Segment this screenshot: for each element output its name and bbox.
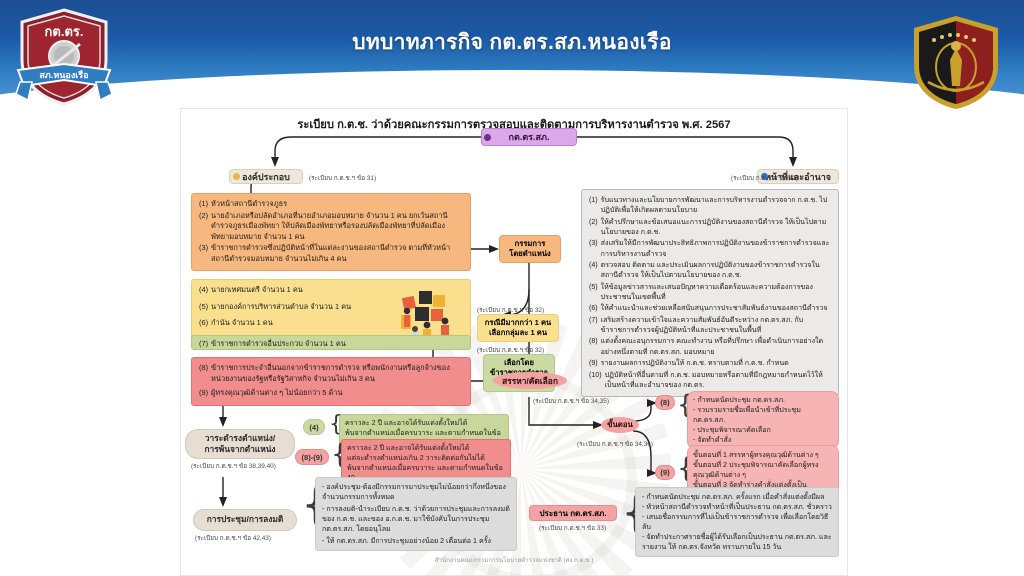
duties-list-box: (1)รับแนวทางและนโยบายการพัฒนาและการบริหา…	[581, 189, 839, 397]
list-item: (2) นายอำเภอหรือปลัดอำเภอที่นายอำเภอมอบห…	[199, 211, 463, 243]
composition-group-orange: (1) หัวหน้าสถานีตำรวจภูธร (2) นายอำเภอหร…	[191, 193, 471, 271]
list-item: (5)ให้ข้อมูลข่าวสารและเสนอปัญหาความเดือด…	[589, 282, 831, 303]
meeting-line: - การลงมติ-นำระเบียบ ก.ต.ช. ว่าด้วยการปร…	[322, 504, 510, 534]
chairman-line: - จัดทำประกาศรายชื่อผู้ได้รับเลือกเป็นปร…	[642, 532, 832, 552]
item-number: (6)	[199, 318, 208, 329]
item-text: ตรวจสอบ ติดตาม และประเมินผลการปฏิบัติงาน…	[601, 260, 831, 281]
meeting-node[interactable]: การประชุม/การลงมติ	[193, 509, 297, 531]
list-item: (10)ปฏิบัติหน้าที่อื่นตามที่ ก.ต.ช. มอบห…	[589, 370, 831, 391]
steps-ref-top: (ระเบียบ ก.ต.ช.ฯ ข้อ 34,35)	[533, 396, 609, 406]
item-number: (7)	[589, 315, 598, 336]
diagram-footer-note: สำนักงานคณะกรรมการนโยบายตำรวจแห่งชาติ (ส…	[181, 555, 847, 565]
meeting-lines-box: - องค์ประชุม-ต้องมีกรรมการมาประชุมไม่น้อ…	[315, 477, 517, 551]
diagram-canvas: ระเบียบ ก.ต.ช. ว่าด้วยคณะกรรมการตรวจสอบแ…	[180, 108, 848, 576]
svg-text:สภ.หนองเรือ: สภ.หนองเรือ	[39, 69, 88, 80]
composition-group-green: (7) ข้าราชการตำรวจอื่นประกวบ จำนวน 1 คน	[191, 335, 471, 350]
step-line: - จัดทำคำสั่ง	[693, 435, 833, 445]
composition-dot-icon	[233, 173, 240, 180]
recruit-select-node[interactable]: สรรหา/คัดเลือก	[493, 372, 567, 389]
item-text: ข้าราชการประจำอื่นนอกจากข้าราชการตำรวจ ห…	[211, 363, 463, 384]
item-text: แต่งตั้งคณะอนุกรรมการ คณะทำงาน หรือที่ปร…	[601, 336, 831, 357]
steps-badge-8: (8)	[655, 395, 675, 410]
committee-by-position-node[interactable]: กรรมการ โดยตำแหน่ง	[499, 235, 561, 263]
item-text: หัวหน้าสถานีตำรวจภูธร	[211, 199, 463, 210]
list-item: (9) ผู้ทรงคุณวุฒิด้านต่าง ๆ ไม่น้อยกว่า …	[199, 388, 463, 399]
item-number: (9)	[199, 388, 208, 399]
list-item: (1)รับแนวทางและนโยบายการพัฒนาและการบริหา…	[589, 195, 831, 216]
page-title: บทบาทภารกิจ กต.ตร.สภ.หนองเรือ	[0, 26, 1024, 59]
branch-composition-text: องค์ประกอบ	[242, 170, 290, 184]
term-line: แต่จะดำรงตำแหน่งเกิน 2 วาระติดต่อกันไม่ไ…	[347, 453, 505, 463]
item-number: (4)	[589, 260, 598, 281]
term-of-office-node[interactable]: วาระดำรงตำแหน่ง/ การพ้นจากตำแหน่ง	[185, 429, 295, 459]
list-item: (2)ให้คำปรึกษาและข้อเสนอแนะการปฏิบัติงาน…	[589, 217, 831, 238]
composition-group-red: (8) ข้าราชการประจำอื่นนอกจากข้าราชการตำร…	[191, 357, 471, 406]
chairman-ref: (ระเบียบ ก.ต.ช.ฯ ข้อ 33)	[539, 523, 606, 533]
item-number: (1)	[589, 195, 598, 216]
item-number: (3)	[589, 238, 598, 259]
step-line: - รวบรวมรายชื่อเพื่อนำเข้าที่ประชุม กต.ต…	[693, 405, 833, 425]
royal-thai-police-emblem-icon	[908, 12, 1004, 112]
step-line: ขั้นตอนที่ 2 ประชุมพิจารณาคัดเลือกผู้ทรง…	[693, 460, 833, 480]
header-wave-front	[0, 70, 1024, 100]
list-item: (3) ข้าราชการตำรวจซึ่งปฏิบัติหน้าที่ในแต…	[199, 243, 463, 264]
item-number: (2)	[589, 217, 598, 238]
item-text: ปฏิบัติหน้าที่อื่นตามที่ ก.ต.ช. มอบหมายห…	[605, 370, 831, 391]
item-text: ส่งเสริมให้มีการพัฒนาประสิทธิภาพการปฏิบั…	[601, 238, 831, 259]
composition-ref: (ระเบียบ ก.ต.ช.ฯ ข้อ 31)	[309, 173, 376, 183]
term-badge-8-9: (8)-(9)	[295, 449, 329, 465]
item-text: ผู้ทรงคุณวุฒิด้านต่าง ๆ ไม่น้อยกว่า 5 ด้…	[211, 388, 463, 399]
item-text: ข้าราชการตำรวจอื่นประกวบ จำนวน 1 คน	[211, 339, 463, 350]
root-node-dot-icon	[484, 134, 491, 141]
item-number: (3)	[199, 243, 208, 264]
item-number: (8)	[199, 363, 208, 384]
list-item: (9)รายงานผลการปฏิบัติงานให้ ก.ต.ช. ทราบต…	[589, 358, 831, 368]
chairman-line: - หัวหน้าสถานีตำรวจทำหน้าที่เป็นประธาน ก…	[642, 502, 832, 512]
item-text: ข้าราชการตำรวจซึ่งปฏิบัติหน้าที่ในแต่ละง…	[211, 243, 463, 264]
chairman-line: - กำหนดนัดประชุม กต.ตร.สภ. ครั้งแรก เมื่…	[642, 492, 832, 502]
duties-ref: (ระเบียบ ก.ต.ช.ฯ ข้อ 41)	[731, 173, 798, 183]
list-item: (7) ข้าราชการตำรวจอื่นประกวบ จำนวน 1 คน	[199, 339, 463, 350]
list-item: (3)ส่งเสริมให้มีการพัฒนาประสิทธิภาพการปฏ…	[589, 238, 831, 259]
branch-composition-label[interactable]: องค์ประกอบ	[229, 169, 303, 184]
item-number: (4)	[199, 285, 208, 296]
term-line: คราวละ 2 ปี และอาจได้รับแต่งตั้งใหม่ได้	[345, 418, 503, 428]
kt-tr-nong-ruea-emblem-icon: กต.ตร. สภ.หนองเรือ	[12, 4, 116, 108]
note1-box: กรณีมีมากกว่า 1 คน เลือกกลุ่มละ 1 คน	[477, 314, 559, 342]
steps-group-8-box: - กำหนดนัดประชุม กต.ตร.สภ. - รวบรวมรายชื…	[687, 391, 839, 449]
item-number: (5)	[589, 282, 598, 303]
teamwork-illustration-icon	[397, 285, 459, 341]
root-node-label: กต.ตร.สภ.	[509, 130, 550, 144]
list-item: (8) ข้าราชการประจำอื่นนอกจากข้าราชการตำร…	[199, 363, 463, 384]
item-number: (2)	[199, 211, 208, 243]
steps-badge-9: (9)	[655, 465, 675, 480]
chairman-lines-box: - กำหนดนัดประชุม กต.ตร.สภ. ครั้งแรก เมื่…	[635, 487, 839, 557]
meeting-ref: (ระเบียบ ก.ต.ช.ฯ ข้อ 42,43)	[195, 533, 271, 543]
list-item: (7)เสริมสร้างความเข้าใจและความสัมพันธ์อั…	[589, 315, 831, 336]
item-text: รายงานผลการปฏิบัติงานให้ ก.ต.ช. ทราบตามท…	[601, 358, 831, 368]
svg-text:กต.ตร.: กต.ตร.	[45, 24, 84, 39]
term-ref: (ระเบียบ ก.ต.ช.ฯ ข้อ 38,39,40)	[191, 461, 276, 471]
chairman-line: - เสนอชื่อกรรมการที่ไม่เป็นข้าราชการตำรว…	[642, 512, 832, 532]
step-line: - ประชุมพิจารณาคัดเลือก	[693, 425, 833, 435]
screenshot-root: บทบาทภารกิจ กต.ตร.สภ.หนองเรือ กต.ตร. สภ.…	[0, 0, 1024, 576]
item-text: เสริมสร้างความเข้าใจและความสัมพันธ์อันดี…	[601, 315, 831, 336]
list-item: (4)ตรวจสอบ ติดตาม และประเมินผลการปฏิบัติ…	[589, 260, 831, 281]
meeting-line: - องค์ประชุม-ต้องมีกรรมการมาประชุมไม่น้อ…	[322, 482, 510, 502]
item-number: (6)	[589, 303, 598, 313]
item-number: (8)	[589, 336, 598, 357]
term-line: คราวละ 2 ปี และอาจได้รับแต่งตั้งใหม่ได้	[347, 443, 505, 453]
item-text: นายอำเภอหรือปลัดอำเภอที่นายอำเภอมอบหมาย …	[211, 211, 463, 243]
item-number: (1)	[199, 199, 208, 210]
item-number: (7)	[199, 339, 208, 350]
list-item: (6)ให้คำแนะนำและช่วยเหลือสนับสนุนการประช…	[589, 303, 831, 313]
list-item: (8)แต่งตั้งคณะอนุกรรมการ คณะทำงาน หรือที…	[589, 336, 831, 357]
item-text: รับแนวทางและนโยบายการพัฒนาและการบริหารงา…	[601, 195, 831, 216]
meeting-line: - ให้ กต.ตร.สภ. มีการประชุมอย่างน้อย 2 เ…	[322, 536, 510, 546]
root-node-kt-tr-sp[interactable]: กต.ตร.สภ.	[481, 128, 577, 146]
steps-node[interactable]: ขั้นตอน	[601, 417, 639, 433]
item-text: ให้คำปรึกษาและข้อเสนอแนะการปฏิบัติงานของ…	[601, 217, 831, 238]
item-number: (5)	[199, 302, 208, 313]
list-item: (1) หัวหน้าสถานีตำรวจภูธร	[199, 199, 463, 210]
chairman-label: ประธาน กต.ตร.สภ.	[539, 507, 606, 520]
chairman-node[interactable]: ประธาน กต.ตร.สภ.	[529, 505, 617, 521]
step-line: ขั้นตอนที่ 1 สรรหาผู้ทรงคุณวุฒิด้านต่าง …	[693, 450, 833, 460]
item-text: ให้คำแนะนำและช่วยเหลือสนับสนุนการประชาสั…	[601, 303, 831, 313]
item-number: (9)	[589, 358, 598, 368]
item-number: (10)	[589, 370, 602, 391]
page-header: บทบาทภารกิจ กต.ตร.สภ.หนองเรือ	[0, 0, 1024, 100]
step-line: - กำหนดนัดประชุม กต.ตร.สภ.	[693, 395, 833, 405]
item-text: ให้ข้อมูลข่าวสารและเสนอปัญหาความเดือดร้อ…	[601, 282, 831, 303]
steps-ref: (ระเบียบ ก.ต.ช.ฯ ข้อ 34,36)	[577, 439, 653, 449]
term-badge-4: (4)	[303, 419, 325, 435]
